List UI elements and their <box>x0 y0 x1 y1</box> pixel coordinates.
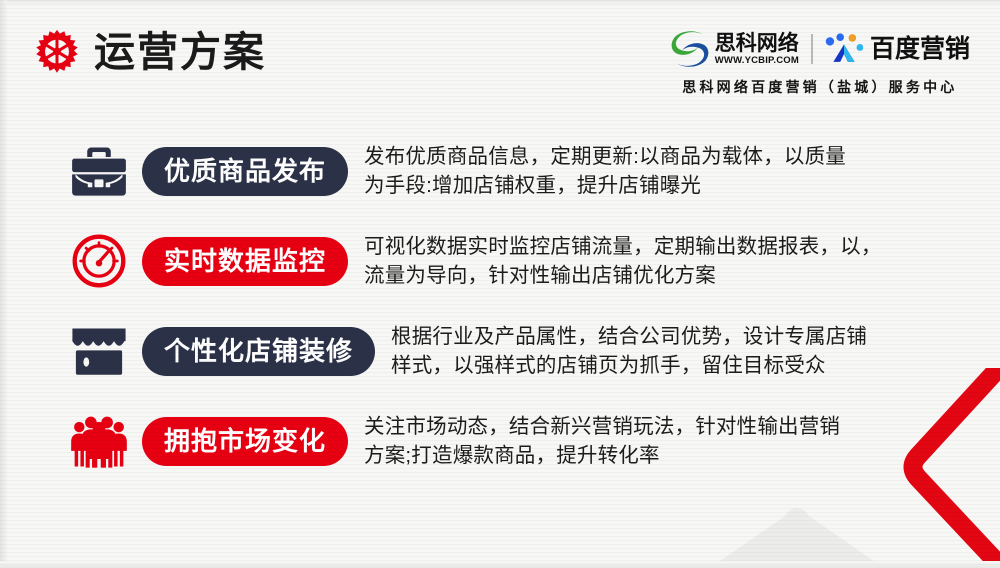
briefcase-icon <box>68 145 130 197</box>
people-group-icon <box>68 414 130 468</box>
sike-text-block: 思科网络 WWW.YCBIP.COM <box>715 33 799 66</box>
feature-description-line: 流量为导向，针对性输出店铺优化方案 <box>364 261 882 290</box>
feature-pill[interactable]: 实时数据监控 <box>142 237 348 286</box>
feature-pill-label: 拥抱市场变化 <box>164 428 326 454</box>
feature-pill-label: 实时数据监控 <box>164 248 326 274</box>
slide-bottom-edge <box>0 561 1000 568</box>
brand-divider <box>811 34 813 64</box>
feature-description-line: 方案;打造爆款商品，提升转化率 <box>364 441 840 470</box>
feature-description-line: 关注市场动态，结合新兴营销玩法，针对性输出营销 <box>364 412 840 441</box>
feature-description-line: 为手段:增加店铺权重，提升店铺曝光 <box>364 171 846 200</box>
feature-rows: 优质商品发布 发布优质商品信息，定期更新:以商品为载体，以质量 为手段:增加店铺… <box>0 126 1000 486</box>
brand-tagline: 思科网络百度营销（盐城）服务中心 <box>682 77 957 97</box>
speedometer-icon <box>68 234 130 288</box>
feature-description: 可视化数据实时监控店铺流量，定期输出数据报表，以， 流量为导向，针对性输出店铺优… <box>364 232 882 290</box>
feature-pill-label: 优质商品发布 <box>164 158 326 184</box>
sike-brand-url: WWW.YCBIP.COM <box>715 56 799 66</box>
brand-logo-row: 思科网络 WWW.YCBIP.COM <box>670 28 970 70</box>
page-title: 运营方案 <box>94 32 266 73</box>
gear-icon <box>34 29 80 75</box>
feature-pill[interactable]: 个性化店铺装修 <box>142 327 375 376</box>
title-group: 运营方案 <box>34 29 266 75</box>
storefront-icon <box>68 325 130 377</box>
feature-description-line: 可视化数据实时监控店铺流量，定期输出数据报表，以， <box>364 232 882 261</box>
feature-description: 关注市场动态，结合新兴营销玩法，针对性输出营销 方案;打造爆款商品，提升转化率 <box>364 412 840 470</box>
brand-logo-block: 思科网络 WWW.YCBIP.COM <box>670 28 970 97</box>
sike-logo: 思科网络 WWW.YCBIP.COM <box>670 30 799 68</box>
feature-description-line: 根据行业及产品属性，结合公司优势，设计专属店铺 <box>391 322 867 351</box>
slide-header: 运营方案 思科网络 WWW.YCBIP.COM <box>0 0 1000 112</box>
baidu-logo: 百度营销 <box>825 33 970 65</box>
slide-canvas: 运营方案 思科网络 WWW.YCBIP.COM <box>0 0 1000 568</box>
baidu-brand-name: 百度营销 <box>870 37 970 62</box>
feature-row: 拥抱市场变化 关注市场动态，结合新兴营销玩法，针对性输出营销 方案;打造爆款商品… <box>0 396 1000 486</box>
feature-description: 根据行业及产品属性，结合公司优势，设计专属店铺 样式，以强样式的店铺页为抓手，留… <box>391 322 867 380</box>
feature-description-line: 发布优质商品信息，定期更新:以商品为载体，以质量 <box>364 142 846 171</box>
feature-pill[interactable]: 拥抱市场变化 <box>142 417 348 466</box>
feature-description-line: 样式，以强样式的店铺页为抓手，留住目标受众 <box>391 351 867 380</box>
feature-description: 发布优质商品信息，定期更新:以商品为载体，以质量 为手段:增加店铺权重，提升店铺… <box>364 142 846 200</box>
feature-row: 实时数据监控 可视化数据实时监控店铺流量，定期输出数据报表，以， 流量为导向，针… <box>0 216 1000 306</box>
baidu-paw-icon <box>825 33 863 65</box>
feature-row: 优质商品发布 发布优质商品信息，定期更新:以商品为载体，以质量 为手段:增加店铺… <box>0 126 1000 216</box>
sike-swoosh-icon <box>670 30 710 68</box>
feature-row: 个性化店铺装修 根据行业及产品属性，结合公司优势，设计专属店铺 样式，以强样式的… <box>0 306 1000 396</box>
sike-brand-name: 思科网络 <box>715 33 799 54</box>
feature-pill-label: 个性化店铺装修 <box>164 338 353 364</box>
feature-pill[interactable]: 优质商品发布 <box>142 147 348 196</box>
